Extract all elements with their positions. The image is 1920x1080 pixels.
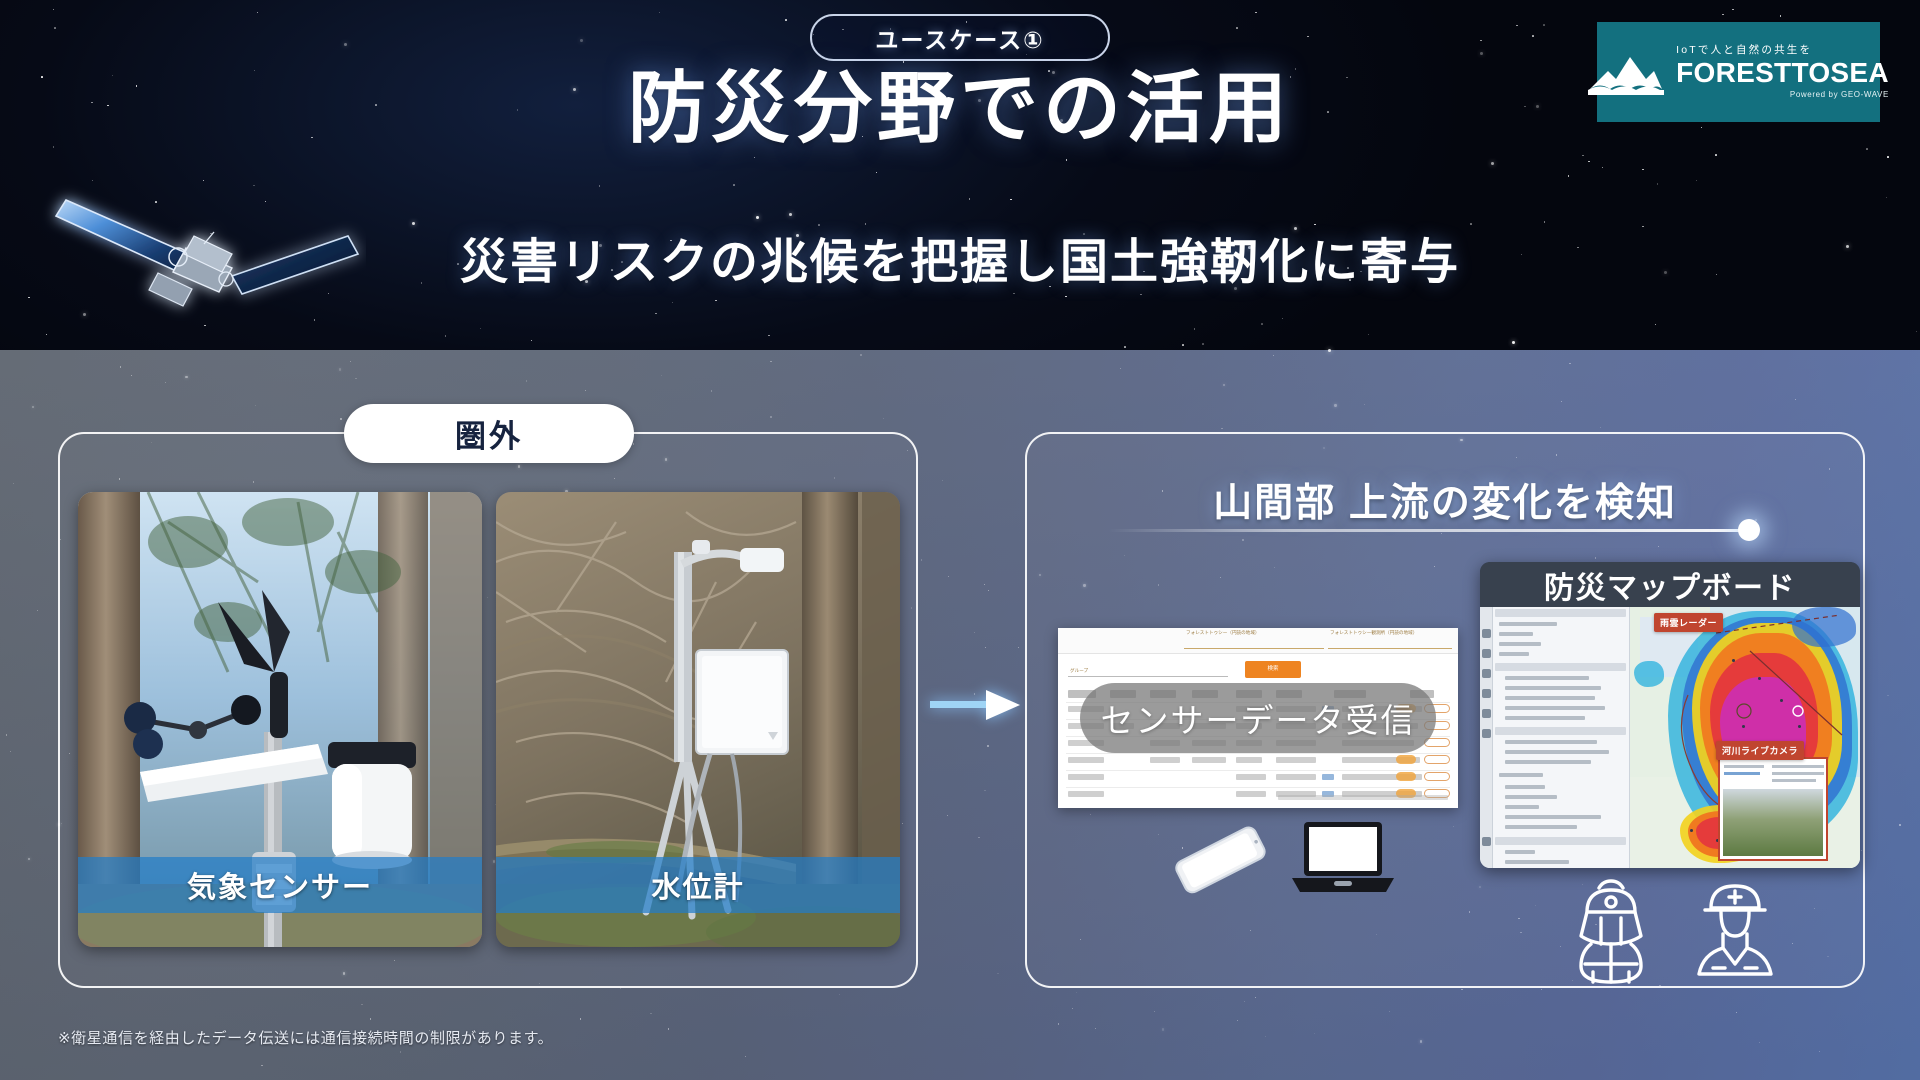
dashboard-search-button[interactable]: 検索	[1245, 661, 1301, 678]
map-tag-river-camera: 河川ライブカメラ	[1716, 741, 1804, 760]
slide-root: ユースケース① 防災分野での活用 災害リスクの兆候を把握し国土強靭化に寄与 Io…	[0, 0, 1920, 1080]
detection-title: 山間部 上流の変化を検知	[1025, 472, 1865, 528]
status-badge-out-of-range: 圏外	[344, 404, 634, 463]
emergency-worker-icons	[1563, 878, 1793, 990]
logo-powered-by: Powered by GEO-WAVE	[1790, 91, 1889, 99]
smartphone-icon	[1168, 820, 1272, 898]
water-level-gauge-photo: 水位計	[496, 492, 900, 947]
river-live-camera-widget	[1718, 757, 1828, 861]
detection-endpoint-dot	[1738, 519, 1760, 541]
disaster-map-board: 防災マップボード	[1480, 562, 1860, 868]
photo-caption: 気象センサー	[78, 857, 482, 913]
map-layer-sidebar	[1493, 607, 1630, 868]
map-toolbar-rail	[1480, 607, 1493, 868]
logo-tagline: IoTで人と自然の共生を	[1676, 45, 1812, 56]
rain-radar-map[interactable]: 雨雲レーダー 河川ライブカメラ	[1630, 607, 1860, 868]
rescue-worker-icon	[1699, 886, 1771, 974]
laptop-icon	[1290, 818, 1396, 900]
detection-divider	[1108, 529, 1746, 532]
use-case-badge: ユースケース①	[810, 14, 1110, 61]
mountain-icon	[1588, 49, 1664, 95]
brand-logo: IoTで人と自然の共生を FORESTTOSEA Powered by GEO-…	[1597, 22, 1880, 122]
map-tag-rain-radar: 雨雲レーダー	[1654, 613, 1723, 632]
weather-sensor-photo: 気象センサー	[78, 492, 482, 947]
footnote: ※衛星通信を経由したデータ伝送には通信接続時間の制限があります。	[58, 1027, 553, 1048]
arrow-right-icon	[930, 688, 1022, 722]
firefighter-icon	[1581, 881, 1641, 982]
page-subtitle: 災害リスクの兆候を把握し国土強靭化に寄与	[0, 222, 1920, 292]
logo-name: FORESTTOSEA	[1676, 59, 1889, 87]
map-board-title: 防災マップボード	[1480, 562, 1860, 607]
sensor-data-received-label: センサーデータ受信	[1080, 683, 1436, 753]
photo-caption: 水位計	[496, 857, 900, 913]
